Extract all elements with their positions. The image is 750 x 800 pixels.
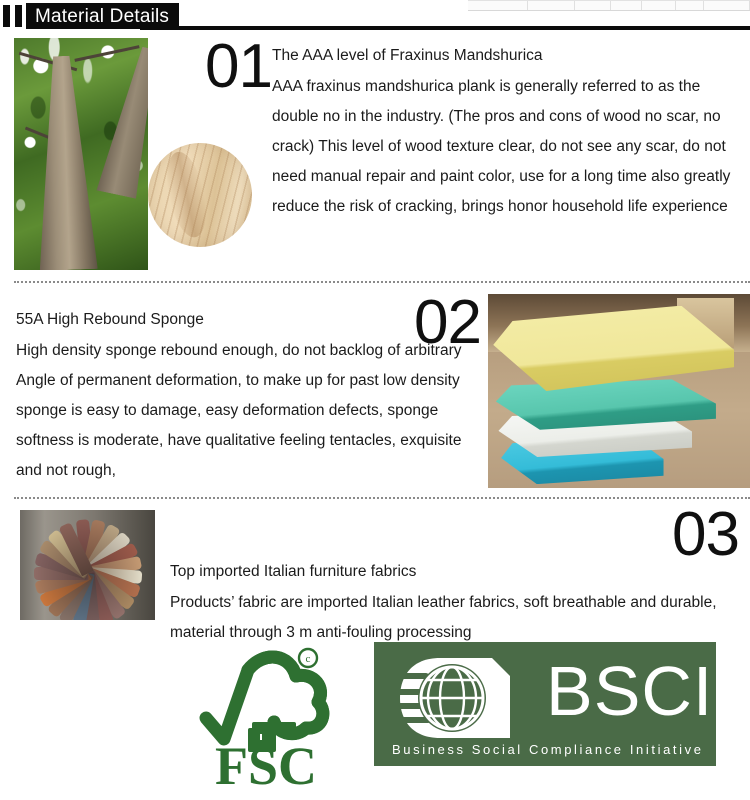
bsci-tagline: Business Social Compliance Initiative — [392, 742, 704, 757]
wood-grain-circle-photo — [148, 143, 252, 247]
bsci-hand-globe-icon — [382, 648, 542, 748]
bar-mark-2 — [15, 5, 22, 27]
leather-fabric-swatch-fan-photo — [20, 510, 155, 620]
section-separator-2 — [14, 497, 750, 499]
section-separator-1 — [14, 281, 750, 283]
section-03-body: Products’ fabric are imported Italian le… — [170, 588, 736, 648]
ash-tree-photo — [14, 38, 148, 270]
page-title: Material Details — [35, 7, 169, 26]
fsc-logo-mark: c FSC — [186, 640, 346, 792]
fsc-copyright-glyph: c — [306, 653, 311, 665]
page-header: Material Details — [0, 3, 750, 29]
double-bar-icon — [3, 5, 22, 27]
section-01-text: The AAA level of Fraxinus Mandshurica — [272, 41, 746, 71]
section-03-heading: Top imported Italian furniture fabrics — [170, 557, 690, 587]
section-02-heading: 55A High Rebound Sponge — [16, 305, 416, 335]
bar-mark-1 — [3, 5, 10, 27]
foam-slab-teal — [496, 379, 716, 429]
foam-sponge-stack-photo — [488, 294, 750, 488]
section-02-body: High density sponge rebound enough, do n… — [16, 336, 468, 486]
bsci-wordmark: BSCI — [546, 656, 713, 726]
section-number-01: 01 — [205, 36, 272, 98]
header-underline-rule — [140, 26, 750, 30]
fsc-logo: c FSC — [186, 640, 346, 792]
section-01-body: AAA fraxinus mandshurica plank is genera… — [272, 72, 746, 222]
section-01-heading: The AAA level of Fraxinus Mandshurica — [272, 41, 746, 71]
bsci-logo: BSCI Business Social Compliance Initiati… — [374, 642, 716, 766]
fsc-wordmark: FSC — [215, 736, 317, 792]
